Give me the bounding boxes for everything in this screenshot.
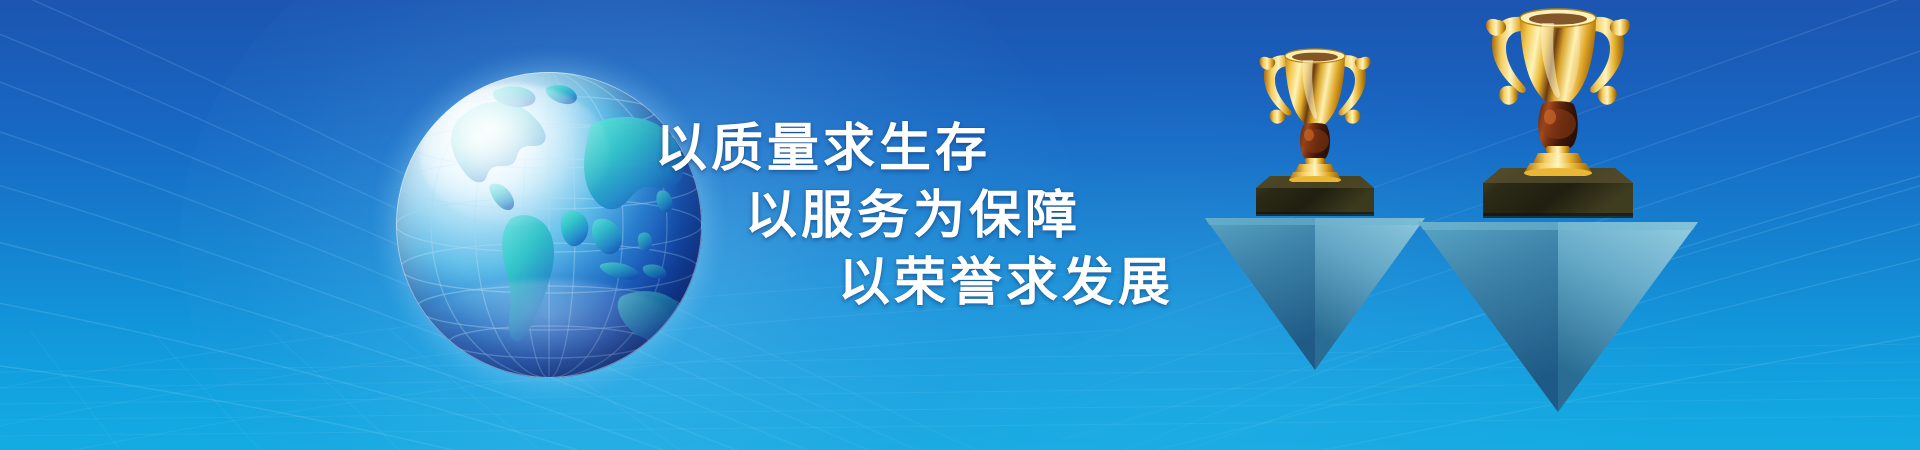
promo-banner: 以质量求生存 以服务为保障 以荣誉求发展 <box>0 0 1920 450</box>
world-globe <box>396 72 702 378</box>
slogan-line-2: 以服务为保障 <box>745 190 1081 242</box>
trophy-pedestal-left-icon <box>1256 176 1374 220</box>
trophy-cone-left-icon <box>1205 218 1425 370</box>
trophy-cone-right-icon <box>1418 222 1698 412</box>
trophy-pedestal-right-icon <box>1483 168 1633 224</box>
trophy-cup-right-icon <box>1482 0 1634 176</box>
trophy-group-right <box>1418 12 1698 412</box>
globe-sphere <box>396 72 702 378</box>
trophy-cup-left-icon <box>1255 22 1375 182</box>
trophy-group-left <box>1205 40 1425 370</box>
globe-rim-icon <box>396 72 702 378</box>
slogan-line-3: 以荣誉求发展 <box>838 257 1174 309</box>
